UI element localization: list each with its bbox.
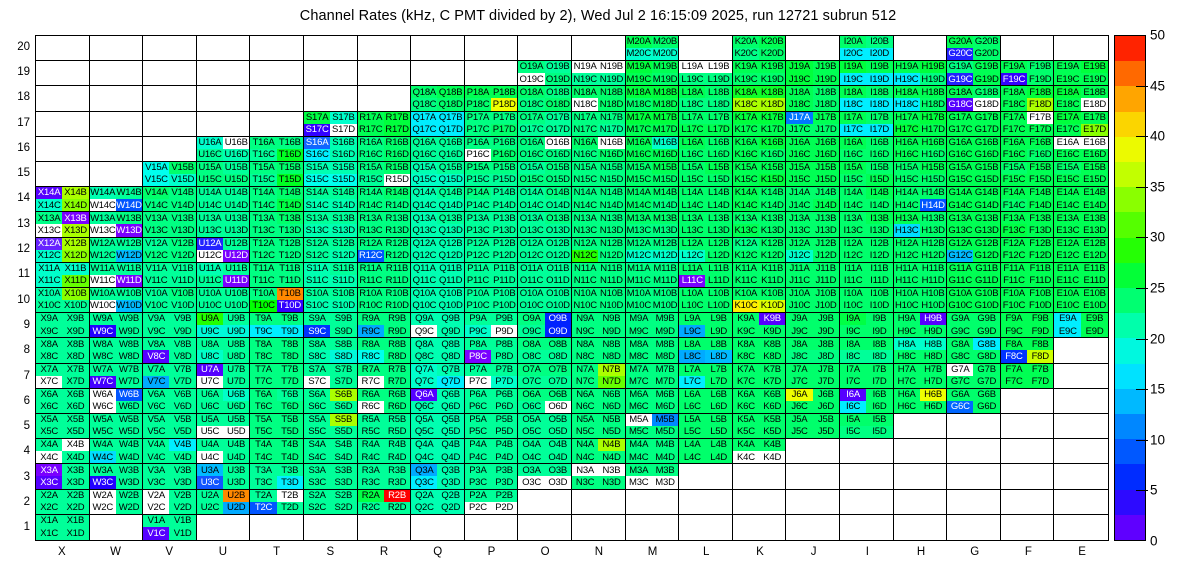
heatmap-subcell: M18B bbox=[652, 86, 678, 98]
heatmap-subcell: T5C bbox=[250, 426, 276, 438]
heatmap-subcell: P16B bbox=[491, 137, 517, 149]
heatmap-subcell: S9C bbox=[304, 325, 330, 337]
heatmap-subcell: S12B bbox=[330, 238, 356, 250]
heatmap-subcell bbox=[223, 86, 249, 98]
heatmap-tile bbox=[786, 439, 840, 464]
heatmap-subcell: W5A bbox=[90, 414, 116, 426]
heatmap-subcell: R12B bbox=[384, 238, 410, 250]
heatmap-subcell: K9D bbox=[759, 325, 785, 337]
heatmap-subcell: M10B bbox=[652, 288, 678, 300]
heatmap-subcell: L19A bbox=[679, 61, 705, 73]
heatmap-tile: Q3AQ3BQ3CQ3D bbox=[411, 464, 465, 489]
heatmap-subcell: E14C bbox=[1054, 199, 1081, 211]
heatmap-subcell: L11B bbox=[705, 263, 731, 275]
heatmap-tile bbox=[36, 137, 90, 162]
heatmap-subcell bbox=[358, 527, 384, 540]
heatmap-subcell: K8B bbox=[759, 338, 785, 350]
heatmap-subcell: R6A bbox=[358, 389, 384, 401]
heatmap-subcell: J10C bbox=[786, 300, 812, 312]
heatmap-subcell: J12A bbox=[786, 238, 812, 250]
heatmap-subcell: G17B bbox=[973, 112, 999, 124]
heatmap-tile: O8AO8BO8CO8D bbox=[518, 338, 572, 363]
heatmap-subcell bbox=[920, 490, 946, 502]
heatmap-subcell bbox=[62, 137, 88, 149]
heatmap-subcell: L15B bbox=[705, 162, 731, 174]
heatmap-subcell: M10A bbox=[626, 288, 652, 300]
heatmap-subcell bbox=[1081, 464, 1108, 476]
heatmap-tile bbox=[358, 515, 412, 540]
heatmap-subcell bbox=[90, 73, 116, 85]
heatmap-tile: I16AI16BI16CI16D bbox=[840, 137, 894, 162]
heatmap-subcell: F14B bbox=[1027, 187, 1053, 199]
heatmap-subcell: N4A bbox=[572, 439, 598, 451]
heatmap-subcell: J14A bbox=[786, 187, 812, 199]
heatmap-subcell: I20B bbox=[866, 36, 892, 48]
heatmap-subcell: O6D bbox=[545, 401, 571, 413]
heatmap-tile bbox=[90, 86, 144, 111]
heatmap-tile: W12AW12BW12CW12D bbox=[90, 238, 144, 263]
heatmap-subcell: R12D bbox=[384, 250, 410, 262]
heatmap-subcell: V13B bbox=[169, 212, 195, 224]
heatmap-subcell: W10A bbox=[90, 288, 116, 300]
heatmap-subcell: N15C bbox=[572, 174, 598, 186]
colorbar-tick-label: 25 bbox=[1150, 281, 1165, 296]
heatmap-subcell: M11C bbox=[626, 275, 652, 287]
heatmap-tile: H9AH9BH9CH9D bbox=[894, 313, 948, 338]
heatmap-subcell: V3C bbox=[143, 476, 169, 488]
heatmap-subcell: I11B bbox=[866, 263, 892, 275]
x-axis-tick: U bbox=[219, 546, 227, 558]
heatmap-subcell bbox=[1081, 502, 1108, 514]
heatmap-subcell: O3D bbox=[545, 476, 571, 488]
heatmap-subcell bbox=[277, 86, 303, 98]
heatmap-tile: P12AP12BP12CP12D bbox=[465, 238, 519, 263]
heatmap-subcell: U9C bbox=[197, 325, 223, 337]
heatmap-subcell: H7B bbox=[920, 364, 946, 376]
heatmap-subcell: U4A bbox=[197, 439, 223, 451]
heatmap-tile: F18AF18BF18CF18D bbox=[1001, 86, 1055, 111]
heatmap-tile: X11AX11BX11CX11D bbox=[36, 263, 90, 288]
heatmap-subcell: H14B bbox=[920, 187, 946, 199]
heatmap-tile: O13AO13BO13CO13D bbox=[518, 212, 572, 237]
heatmap-subcell: M12C bbox=[626, 250, 652, 262]
heatmap-subcell bbox=[866, 451, 892, 463]
heatmap-tile: H15AH15BH15CH15D bbox=[894, 162, 948, 187]
heatmap-subcell bbox=[920, 439, 946, 451]
heatmap-subcell: W6D bbox=[116, 401, 142, 413]
heatmap-tile: P3AP3BP3CP3D bbox=[465, 464, 519, 489]
heatmap-subcell: S17B bbox=[330, 112, 356, 124]
heatmap-subcell bbox=[545, 36, 571, 48]
heatmap-subcell: K18B bbox=[759, 86, 785, 98]
heatmap-tile bbox=[894, 464, 948, 489]
heatmap-subcell: K13D bbox=[759, 224, 785, 236]
heatmap-subcell: S10A bbox=[304, 288, 330, 300]
heatmap-subcell: M14A bbox=[626, 187, 652, 199]
heatmap-subcell: K5B bbox=[759, 414, 785, 426]
colorbar-segment bbox=[1115, 288, 1145, 313]
heatmap-tile: X14AX14BX14CX14D bbox=[36, 187, 90, 212]
heatmap-subcell bbox=[920, 464, 946, 476]
heatmap-subcell: J9A bbox=[786, 313, 812, 325]
heatmap-subcell: N18B bbox=[598, 86, 624, 98]
heatmap-subcell: Q14C bbox=[411, 199, 437, 211]
heatmap-subcell bbox=[62, 86, 88, 98]
heatmap-subcell bbox=[169, 73, 195, 85]
heatmap-subcell: M5C bbox=[626, 426, 652, 438]
heatmap-subcell: K18D bbox=[759, 98, 785, 110]
heatmap-subcell: Q6D bbox=[437, 401, 463, 413]
heatmap-subcell: I6A bbox=[840, 389, 866, 401]
heatmap-subcell: H14C bbox=[894, 199, 920, 211]
heatmap-subcell: G14B bbox=[973, 187, 999, 199]
heatmap-subcell: K6C bbox=[733, 401, 759, 413]
heatmap-subcell: W8B bbox=[116, 338, 142, 350]
heatmap-subcell: H7C bbox=[894, 376, 920, 388]
heatmap-subcell: G6D bbox=[973, 401, 999, 413]
heatmap-subcell: J16B bbox=[813, 137, 839, 149]
heatmap-subcell: R14A bbox=[358, 187, 384, 199]
heatmap-subcell: Q15C bbox=[411, 174, 437, 186]
heatmap-subcell bbox=[330, 515, 356, 528]
heatmap-tile bbox=[840, 515, 894, 540]
colorbar-tick-label: 50 bbox=[1150, 28, 1165, 43]
heatmap-subcell: M4B bbox=[652, 439, 678, 451]
heatmap-tile bbox=[840, 439, 894, 464]
heatmap-tile: X13AX13BX13CX13D bbox=[36, 212, 90, 237]
heatmap-subcell bbox=[947, 464, 973, 476]
heatmap-subcell: I20A bbox=[840, 36, 866, 48]
heatmap-plot: M20AM20BM20CM20DK20AK20BK20CK20DI20AI20B… bbox=[35, 35, 1109, 541]
heatmap-subcell: R7C bbox=[358, 376, 384, 388]
heatmap-subcell: G8C bbox=[947, 350, 973, 362]
heatmap-subcell bbox=[250, 48, 276, 60]
heatmap-tile: T5AT5BT5CT5D bbox=[250, 414, 304, 439]
heatmap-subcell: S15D bbox=[330, 174, 356, 186]
heatmap-subcell: Q11B bbox=[437, 263, 463, 275]
heatmap-subcell: I11A bbox=[840, 263, 866, 275]
heatmap-subcell: X3C bbox=[36, 476, 62, 488]
heatmap-subcell bbox=[1081, 527, 1108, 540]
heatmap-subcell: H18D bbox=[920, 98, 946, 110]
heatmap-subcell: W8D bbox=[116, 350, 142, 362]
heatmap-subcell: G12C bbox=[947, 250, 973, 262]
heatmap-subcell: L17B bbox=[705, 112, 731, 124]
heatmap-subcell bbox=[920, 451, 946, 463]
heatmap-subcell: O4D bbox=[545, 451, 571, 463]
heatmap-subcell: I18D bbox=[866, 98, 892, 110]
heatmap-subcell: W7D bbox=[116, 376, 142, 388]
heatmap-subcell: E11D bbox=[1081, 275, 1108, 287]
heatmap-subcell: T5D bbox=[277, 426, 303, 438]
heatmap-subcell: W7A bbox=[90, 364, 116, 376]
heatmap-subcell: N7A bbox=[572, 364, 598, 376]
heatmap-subcell: I20D bbox=[866, 48, 892, 60]
heatmap-subcell: X6A bbox=[36, 389, 62, 401]
heatmap-subcell: J19D bbox=[813, 73, 839, 85]
x-axis-tick: L bbox=[703, 546, 709, 558]
heatmap-subcell: H12D bbox=[920, 250, 946, 262]
heatmap-subcell: V15A bbox=[143, 162, 169, 174]
heatmap-subcell: I10C bbox=[840, 300, 866, 312]
heatmap-subcell: J10D bbox=[813, 300, 839, 312]
heatmap-subcell bbox=[304, 61, 330, 73]
heatmap-subcell: T7B bbox=[277, 364, 303, 376]
heatmap-tile: I13AI13BI13CI13D bbox=[840, 212, 894, 237]
heatmap-subcell: E16D bbox=[1081, 149, 1108, 161]
heatmap-subcell bbox=[62, 174, 88, 186]
heatmap-tile: J19AJ19BJ19CJ19D bbox=[786, 61, 840, 86]
heatmap-subcell: M6D bbox=[652, 401, 678, 413]
heatmap-subcell: E10D bbox=[1081, 300, 1108, 312]
heatmap-subcell: O6C bbox=[518, 401, 544, 413]
heatmap-subcell bbox=[250, 98, 276, 110]
heatmap-subcell: E12C bbox=[1054, 250, 1081, 262]
heatmap-subcell: H10B bbox=[920, 288, 946, 300]
heatmap-tile bbox=[411, 36, 465, 61]
y-axis-tick: 10 bbox=[0, 294, 30, 306]
heatmap-subcell: O3C bbox=[518, 476, 544, 488]
heatmap-subcell: Q2B bbox=[437, 490, 463, 502]
heatmap-subcell: V2A bbox=[143, 490, 169, 502]
heatmap-subcell: W12B bbox=[116, 238, 142, 250]
heatmap-subcell: N5A bbox=[572, 414, 598, 426]
heatmap-subcell bbox=[598, 36, 624, 48]
heatmap-subcell: X6C bbox=[36, 401, 62, 413]
heatmap-subcell: M9B bbox=[652, 313, 678, 325]
heatmap-subcell: I15B bbox=[866, 162, 892, 174]
heatmap-subcell bbox=[920, 36, 946, 48]
heatmap-subcell: V12C bbox=[143, 250, 169, 262]
x-axis-tick: X bbox=[58, 546, 66, 558]
heatmap-tile: Q8AQ8BQ8CQ8D bbox=[411, 338, 465, 363]
heatmap-subcell: S3D bbox=[330, 476, 356, 488]
heatmap-subcell: U11A bbox=[197, 263, 223, 275]
heatmap-subcell: P8C bbox=[465, 350, 491, 362]
colorbar-segment bbox=[1115, 86, 1145, 111]
heatmap-subcell: R2C bbox=[358, 502, 384, 514]
heatmap-subcell: G16C bbox=[947, 149, 973, 161]
heatmap-tile: R9AR9BR9CR9D bbox=[358, 313, 412, 338]
heatmap-subcell: J8D bbox=[813, 350, 839, 362]
heatmap-subcell bbox=[116, 527, 142, 540]
heatmap-tile: K20AK20BK20CK20D bbox=[733, 36, 787, 61]
heatmap-subcell: P15A bbox=[465, 162, 491, 174]
heatmap-subcell: G10B bbox=[973, 288, 999, 300]
heatmap-subcell: I12B bbox=[866, 238, 892, 250]
heatmap-subcell bbox=[62, 98, 88, 110]
heatmap-subcell: M17B bbox=[652, 112, 678, 124]
heatmap-subcell: L9C bbox=[679, 325, 705, 337]
heatmap-subcell bbox=[277, 48, 303, 60]
heatmap-subcell: X14C bbox=[36, 199, 62, 211]
heatmap-subcell: W11A bbox=[90, 263, 116, 275]
heatmap-subcell: J18C bbox=[786, 98, 812, 110]
heatmap-subcell bbox=[36, 86, 62, 98]
heatmap-subcell: X9D bbox=[62, 325, 88, 337]
heatmap-subcell: O17A bbox=[518, 112, 544, 124]
heatmap-subcell: N14D bbox=[598, 199, 624, 211]
heatmap-subcell bbox=[1081, 48, 1108, 60]
heatmap-subcell bbox=[679, 515, 705, 528]
heatmap-subcell: L14C bbox=[679, 199, 705, 211]
heatmap-subcell bbox=[1001, 401, 1027, 413]
heatmap-subcell: O10C bbox=[518, 300, 544, 312]
heatmap-subcell: F15D bbox=[1027, 174, 1053, 186]
heatmap-subcell bbox=[1054, 439, 1081, 451]
heatmap-tile bbox=[786, 515, 840, 540]
heatmap-tile: J18AJ18BJ18CJ18D bbox=[786, 86, 840, 111]
heatmap-subcell: O15D bbox=[545, 174, 571, 186]
heatmap-subcell: M18A bbox=[626, 86, 652, 98]
heatmap-subcell: Q7B bbox=[437, 364, 463, 376]
heatmap-subcell bbox=[813, 48, 839, 60]
heatmap-tile: S16AS16BS16CS16D bbox=[304, 137, 358, 162]
heatmap-subcell: T4B bbox=[277, 439, 303, 451]
heatmap-subcell: W14C bbox=[90, 199, 116, 211]
heatmap-subcell: S4B bbox=[330, 439, 356, 451]
heatmap-subcell bbox=[679, 36, 705, 48]
heatmap-subcell: F11B bbox=[1027, 263, 1053, 275]
heatmap-tile: N4AN4BN4CN4D bbox=[572, 439, 626, 464]
heatmap-subcell: S13D bbox=[330, 224, 356, 236]
heatmap-subcell: O10B bbox=[545, 288, 571, 300]
heatmap-subcell: O7C bbox=[518, 376, 544, 388]
heatmap-subcell: X1D bbox=[62, 527, 88, 540]
heatmap-subcell: T13B bbox=[277, 212, 303, 224]
heatmap-subcell: V9B bbox=[169, 313, 195, 325]
heatmap-tile: K6AK6BK6CK6D bbox=[733, 389, 787, 414]
heatmap-tile: Q11AQ11BQ11CQ11D bbox=[411, 263, 465, 288]
colorbar-segment bbox=[1115, 61, 1145, 86]
heatmap-tile: P11AP11BP11CP11D bbox=[465, 263, 519, 288]
heatmap-subcell: N4D bbox=[598, 451, 624, 463]
heatmap-subcell: H18C bbox=[894, 98, 920, 110]
heatmap-subcell: U7B bbox=[223, 364, 249, 376]
y-axis-tick: 9 bbox=[0, 319, 30, 331]
heatmap-tile: H16AH16BH16CH16D bbox=[894, 137, 948, 162]
heatmap-tile: P14AP14BP14CP14D bbox=[465, 187, 519, 212]
heatmap-subcell: T16A bbox=[250, 137, 276, 149]
heatmap-subcell: V1D bbox=[169, 527, 195, 540]
heatmap-tile: R12AR12BR12CR12D bbox=[358, 238, 412, 263]
heatmap-tile: L11AL11BL11CL11D bbox=[679, 263, 733, 288]
heatmap-tile: K16AK16BK16CK16D bbox=[733, 137, 787, 162]
heatmap-subcell bbox=[90, 61, 116, 73]
heatmap-subcell bbox=[894, 48, 920, 60]
heatmap-subcell: O19C bbox=[518, 73, 544, 85]
heatmap-subcell bbox=[250, 112, 276, 124]
heatmap-subcell: M3A bbox=[626, 464, 652, 476]
heatmap-subcell: G16B bbox=[973, 137, 999, 149]
heatmap-subcell: Q13C bbox=[411, 224, 437, 236]
heatmap-tile: P7AP7BP7CP7D bbox=[465, 364, 519, 389]
heatmap-tile: I7AI7BI7CI7D bbox=[840, 364, 894, 389]
heatmap-subcell bbox=[840, 451, 866, 463]
heatmap-subcell: I16C bbox=[840, 149, 866, 161]
heatmap-subcell: I5D bbox=[866, 426, 892, 438]
heatmap-tile: O10AO10BO10CO10D bbox=[518, 288, 572, 313]
heatmap-subcell: Q3A bbox=[411, 464, 437, 476]
heatmap-subcell: S15B bbox=[330, 162, 356, 174]
heatmap-subcell: O15B bbox=[545, 162, 571, 174]
heatmap-subcell: G7D bbox=[973, 376, 999, 388]
heatmap-subcell: T7C bbox=[250, 376, 276, 388]
heatmap-subcell bbox=[36, 48, 62, 60]
heatmap-subcell: F10A bbox=[1001, 288, 1027, 300]
heatmap-subcell: R8C bbox=[358, 350, 384, 362]
heatmap-tile: O12AO12BO12CO12D bbox=[518, 238, 572, 263]
heatmap-subcell: I9C bbox=[840, 325, 866, 337]
heatmap-subcell bbox=[705, 36, 731, 48]
heatmap-tile: M10AM10BM10CM10D bbox=[626, 288, 680, 313]
heatmap-subcell: W10D bbox=[116, 300, 142, 312]
heatmap-subcell: V14B bbox=[169, 187, 195, 199]
heatmap-subcell: S4A bbox=[304, 439, 330, 451]
heatmap-subcell: M19A bbox=[626, 61, 652, 73]
x-axis-tick: N bbox=[595, 546, 603, 558]
heatmap-subcell: S11C bbox=[304, 275, 330, 287]
heatmap-subcell: O3B bbox=[545, 464, 571, 476]
heatmap-subcell: K12C bbox=[733, 250, 759, 262]
heatmap-subcell bbox=[36, 73, 62, 85]
heatmap-tile bbox=[947, 515, 1001, 540]
heatmap-subcell: P18D bbox=[491, 98, 517, 110]
heatmap-subcell: H16D bbox=[920, 149, 946, 161]
heatmap-subcell bbox=[116, 36, 142, 48]
heatmap-subcell: G8A bbox=[947, 338, 973, 350]
heatmap-tile bbox=[1001, 490, 1055, 515]
heatmap-subcell: J10A bbox=[786, 288, 812, 300]
heatmap-subcell bbox=[384, 515, 410, 528]
heatmap-subcell: N14A bbox=[572, 187, 598, 199]
heatmap-subcell: N14C bbox=[572, 199, 598, 211]
heatmap-subcell bbox=[1081, 36, 1108, 48]
heatmap-subcell: M17C bbox=[626, 124, 652, 136]
heatmap-subcell bbox=[894, 439, 920, 451]
heatmap-subcell: J19C bbox=[786, 73, 812, 85]
heatmap-subcell: M16B bbox=[652, 137, 678, 149]
heatmap-subcell: P7A bbox=[465, 364, 491, 376]
heatmap-subcell: T16D bbox=[277, 149, 303, 161]
heatmap-subcell: Q9A bbox=[411, 313, 437, 325]
heatmap-subcell bbox=[437, 48, 463, 60]
heatmap-subcell: M6C bbox=[626, 401, 652, 413]
heatmap-subcell bbox=[920, 515, 946, 528]
heatmap-subcell bbox=[1027, 527, 1053, 540]
heatmap-subcell bbox=[465, 36, 491, 48]
heatmap-subcell: J9C bbox=[786, 325, 812, 337]
heatmap-subcell bbox=[1081, 414, 1108, 426]
heatmap-subcell: I18A bbox=[840, 86, 866, 98]
heatmap-tile: M12AM12BM12CM12D bbox=[626, 238, 680, 263]
heatmap-subcell bbox=[250, 124, 276, 136]
heatmap-tile bbox=[786, 464, 840, 489]
heatmap-subcell: H13B bbox=[920, 212, 946, 224]
heatmap-tile: O6AO6BO6CO6D bbox=[518, 389, 572, 414]
heatmap-tile bbox=[1054, 364, 1108, 389]
heatmap-subcell bbox=[1054, 401, 1081, 413]
heatmap-subcell: O5D bbox=[545, 426, 571, 438]
heatmap-tile: H17AH17BH17CH17D bbox=[894, 112, 948, 137]
heatmap-subcell bbox=[1001, 502, 1027, 514]
heatmap-subcell bbox=[304, 515, 330, 528]
heatmap-subcell: I15D bbox=[866, 174, 892, 186]
heatmap-subcell: L10D bbox=[705, 300, 731, 312]
heatmap-subcell bbox=[62, 36, 88, 48]
heatmap-subcell: M5A bbox=[626, 414, 652, 426]
heatmap-subcell: O9C bbox=[518, 325, 544, 337]
